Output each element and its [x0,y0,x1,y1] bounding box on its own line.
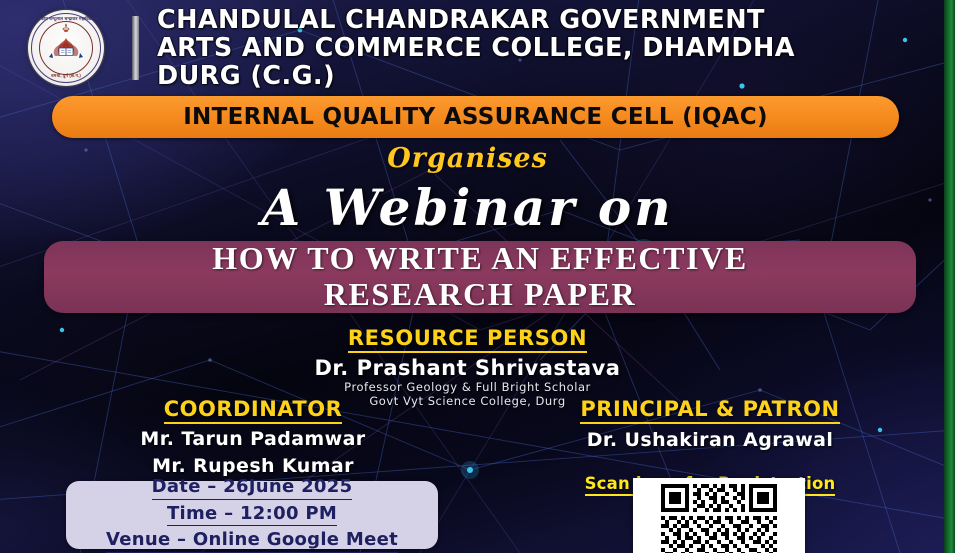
coordinator-name-1: Mr. Tarun Padamwar [58,427,448,451]
webinar-headline: A Webinar on [0,178,935,237]
webinar-title-line1: HOW TO WRITE AN EFFECTIVE [212,241,748,277]
resource-person-sub-line1: Professor Geology & Full Bright Scholar [0,380,935,394]
college-emblem-icon: शासकीय चन्दूलाल चन्द्राकर महाविद्यालय धम… [28,10,104,86]
resource-person-section: RESOURCE PERSON Dr. Prashant Shrivastava… [0,326,935,408]
right-edge-accent-strip [944,0,955,553]
emblem-lotus-book-icon [46,33,86,63]
iqac-label: INTERNAL QUALITY ASSURANCE CELL (IQAC) [183,104,768,130]
principal-name: Dr. Ushakiran Agrawal [500,428,920,452]
principal-heading: PRINCIPAL & PATRON [580,397,839,424]
event-details-box: Date – 26June 2025 Time – 12:00 PM Venue… [66,481,438,549]
webinar-title-banner: HOW TO WRITE AN EFFECTIVE RESEARCH PAPER [44,241,916,313]
registration-qr-code[interactable] [633,478,805,553]
resource-person-name: Dr. Prashant Shrivastava [0,356,935,380]
qr-code-icon [639,484,799,553]
emblem-hindi-bottom-text: धमधा, दुर्ग (छ.ग.) [28,73,104,79]
college-name-line2: ARTS AND COMMERCE COLLEGE, DHAMDHA [157,34,795,62]
iqac-banner: INTERNAL QUALITY ASSURANCE CELL (IQAC) [52,96,899,138]
webinar-poster: शासकीय चन्दूलाल चन्द्राकर महाविद्यालय धम… [0,0,955,553]
coordinator-heading: COORDINATOR [164,397,343,424]
event-date: Date – 26June 2025 [152,475,353,500]
college-name-line1: CHANDULAL CHANDRAKAR GOVERNMENT [157,6,795,34]
college-name-line3: DURG (C.G.) [157,62,795,90]
webinar-title-line2: RESEARCH PAPER [324,277,637,313]
logo-wrapper: शासकीय चन्दूलाल चन्द्राकर महाविद्यालय धम… [0,10,132,86]
poster-header: शासकीय चन्दूलाल चन्द्राकर महाविद्यालय धम… [0,6,935,90]
event-time: Time – 12:00 PM [167,502,337,527]
resource-person-heading: RESOURCE PERSON [348,326,587,353]
emblem-hindi-top-text: शासकीय चन्दूलाल चन्द्राकर महाविद्यालय [28,16,104,22]
organises-text: Organises [0,143,935,174]
header-divider [132,16,139,80]
event-venue: Venue – Online Google Meet [106,528,398,553]
college-name: CHANDULAL CHANDRAKAR GOVERNMENT ARTS AND… [157,6,795,91]
